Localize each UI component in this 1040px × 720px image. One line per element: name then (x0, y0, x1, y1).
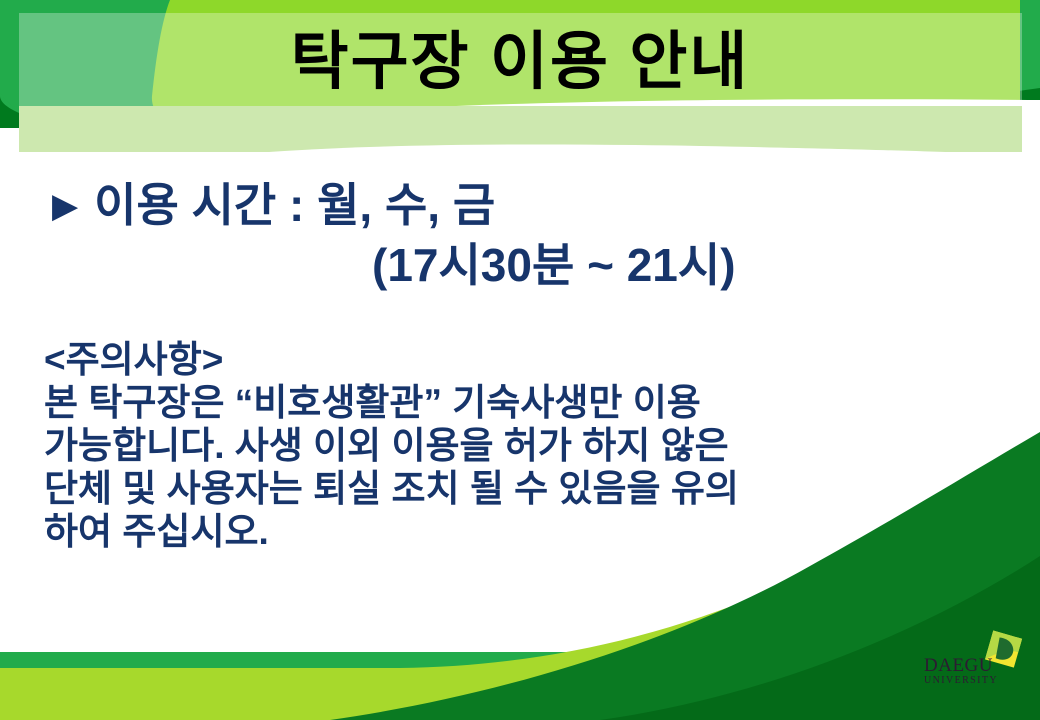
logo-wordmark: DAEGU UNIVERSITY (924, 656, 1036, 686)
usage-hours-line-2: (17시30분 ~ 21시) (52, 240, 1040, 292)
logo-subtitle: UNIVERSITY (924, 676, 1036, 686)
notice-line: 단체 및 사용자는 퇴실 조치 될 수 있음을 유의 (44, 468, 1040, 511)
page-title: 탁구장 이용 안내 (291, 31, 750, 94)
body-content: ▶ 이용 시간 : 월, 수, 금 (17시30분 ~ 21시) <주의사항> … (0, 180, 1040, 554)
title-pale-backing (19, 106, 1022, 152)
daegu-university-logo: DAEGU UNIVERSITY (924, 628, 1036, 698)
usage-hours-text: 이용 시간 : 월, 수, 금 (94, 180, 495, 232)
title-container: 탁구장 이용 안내 (0, 16, 1040, 108)
slide-canvas: 탁구장 이용 안내 ▶ 이용 시간 : 월, 수, 금 (17시30분 ~ 21… (0, 0, 1040, 720)
notice-line: 하여 주십시오. (44, 511, 1040, 554)
notice-line: 가능합니다. 사생 이외 이용을 허가 하지 않은 (44, 425, 1040, 468)
footer-lime-wedge (0, 540, 1040, 720)
notice-line: 본 탁구장은 “비호생활관” 기숙사생만 이용 (44, 382, 1040, 425)
usage-hours-block: ▶ 이용 시간 : 월, 수, 금 (17시30분 ~ 21시) (0, 180, 1040, 291)
notice-block: <주의사항> 본 탁구장은 “비호생활관” 기숙사생만 이용 가능합니다. 사생… (0, 339, 1040, 554)
footer-mid-band (0, 652, 1040, 720)
logo-name: DAEGU (924, 656, 1036, 675)
notice-heading: <주의사항> (44, 339, 1040, 382)
usage-hours-line-1: ▶ 이용 시간 : 월, 수, 금 (52, 180, 1040, 232)
triangle-bullet-icon: ▶ (52, 189, 78, 223)
footer-mid-band-2 (0, 652, 1040, 720)
